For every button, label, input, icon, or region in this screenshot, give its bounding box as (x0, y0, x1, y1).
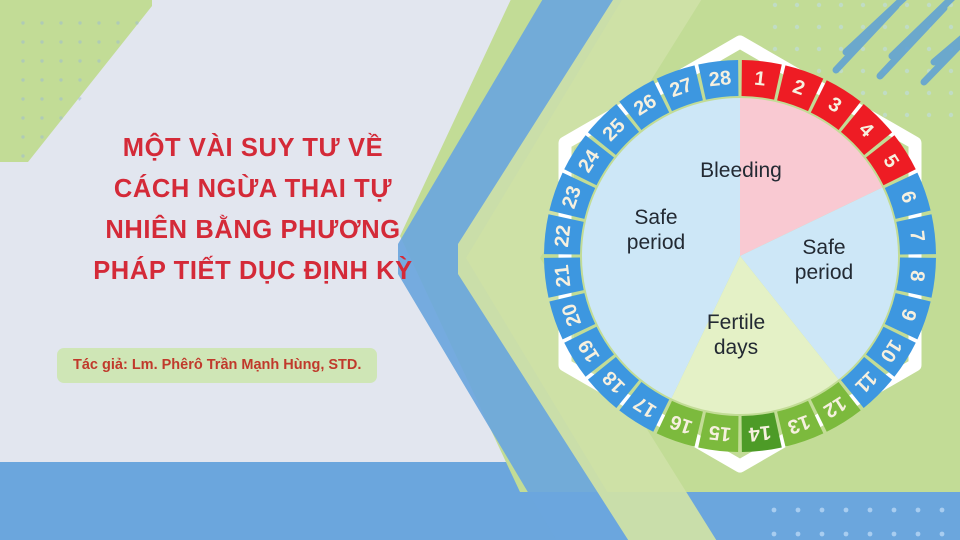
title-line-3: NHIÊN BẰNG PHƯƠNG (58, 210, 448, 251)
title-line-2: CÁCH NGỪA THAI TỰ (58, 169, 448, 210)
cycle-day-number-15: 15 (708, 421, 733, 445)
author-badge: Tác giả: Lm. Phêrô Trần Mạnh Hùng, STD. (57, 348, 377, 383)
page-title: MỘT VÀI SUY TƯ VỀ CÁCH NGỪA THAI TỰ NHIÊ… (58, 128, 448, 292)
cycle-day-number-22: 22 (551, 224, 575, 249)
title-line-1: MỘT VÀI SUY TƯ VỀ (58, 128, 448, 169)
wheel-phase-pie (582, 98, 898, 414)
title-line-4: PHÁP TIẾT DỤC ĐỊNH KỲ (58, 251, 448, 292)
cycle-day-number-14: 14 (747, 421, 772, 445)
cycle-day-number-21: 21 (551, 264, 575, 289)
slide-canvas: 1234567891011121314151617181920212223242… (0, 0, 960, 540)
cycle-day-number-28: 28 (708, 67, 733, 91)
